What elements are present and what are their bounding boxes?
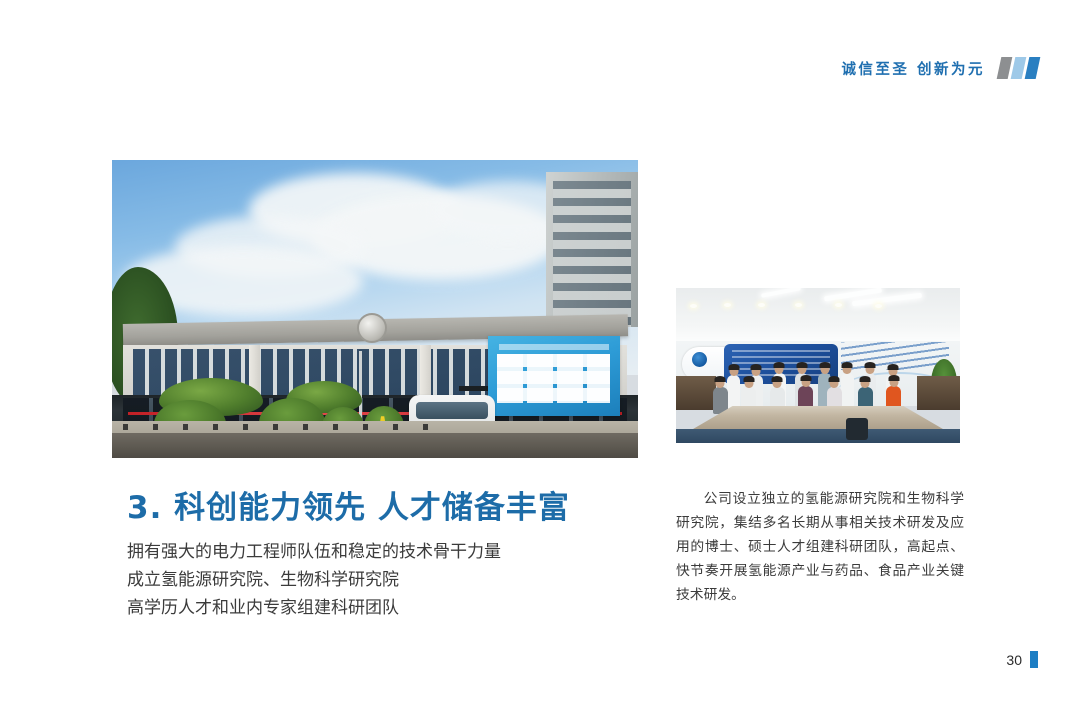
- flag-pole: [359, 351, 362, 423]
- downlight: [795, 303, 802, 307]
- bullet-line: 高学历人才和业内专家组建科研团队: [127, 594, 501, 622]
- downlight: [875, 304, 882, 308]
- downlight: [690, 304, 697, 308]
- downlight: [835, 303, 842, 307]
- office-chair: [846, 418, 868, 440]
- curb-markers: [123, 424, 439, 430]
- adjacent-building: [546, 172, 638, 327]
- photo-team-group: [676, 288, 960, 443]
- slogan-text: 诚信至圣 创新为元: [841, 58, 985, 79]
- person-head: [865, 364, 874, 374]
- person-standing: [727, 375, 740, 409]
- person-head: [716, 378, 725, 388]
- person-head: [744, 378, 753, 388]
- person-head: [843, 364, 852, 374]
- ceiling-light: [761, 288, 801, 297]
- bullet-line: 拥有强大的电力工程师队伍和稳定的技术骨干力量: [127, 538, 501, 566]
- bullet-list: 拥有强大的电力工程师队伍和稳定的技术骨干力量 成立氢能源研究院、生物科学研究院 …: [127, 538, 501, 622]
- header-slogan: 诚信至圣 创新为元: [841, 57, 1038, 79]
- bar-blue-icon: [1025, 57, 1041, 79]
- person-head: [830, 378, 839, 388]
- bar-gray-icon: [997, 57, 1013, 79]
- slide-canvas: 诚信至圣 创新为元: [0, 0, 1070, 710]
- page-title: 3. 科创能力领先 人才储备丰富: [127, 482, 570, 527]
- person-head: [729, 366, 738, 376]
- page-number: 30: [1006, 652, 1022, 668]
- person-head: [797, 364, 806, 374]
- page-number-accent-bar: [1030, 651, 1038, 668]
- building-emblem-logo: [357, 313, 387, 343]
- downlight: [724, 303, 731, 307]
- floor: [676, 429, 960, 443]
- description-paragraph: 公司设立独立的氢能源研究院和生物科学研究院，集结多名长期从事相关技术研发及应用的…: [676, 487, 964, 607]
- photo-building-exterior: [112, 160, 638, 458]
- person-head: [801, 377, 810, 387]
- conference-table: [693, 406, 943, 429]
- person-standing: [841, 373, 854, 409]
- ceiling: [676, 288, 960, 341]
- road-asphalt: [112, 433, 638, 458]
- person-head: [889, 377, 898, 387]
- downlight: [758, 303, 765, 307]
- person-head: [773, 378, 782, 388]
- page-number-block: 30: [1006, 651, 1038, 668]
- bar-light-blue-icon: [1011, 57, 1027, 79]
- person-head: [752, 366, 761, 376]
- bullet-line: 成立氢能源研究院、生物科学研究院: [127, 566, 501, 594]
- slogan-decor-bars: [999, 57, 1038, 79]
- person-seated: [713, 387, 728, 413]
- blue-information-board: [488, 336, 620, 416]
- person-head: [861, 378, 870, 388]
- company-logo-icon: [692, 352, 707, 367]
- side-cabinet: [917, 376, 960, 410]
- person-head: [775, 364, 784, 374]
- side-cabinet: [676, 376, 716, 410]
- person-head: [820, 364, 829, 374]
